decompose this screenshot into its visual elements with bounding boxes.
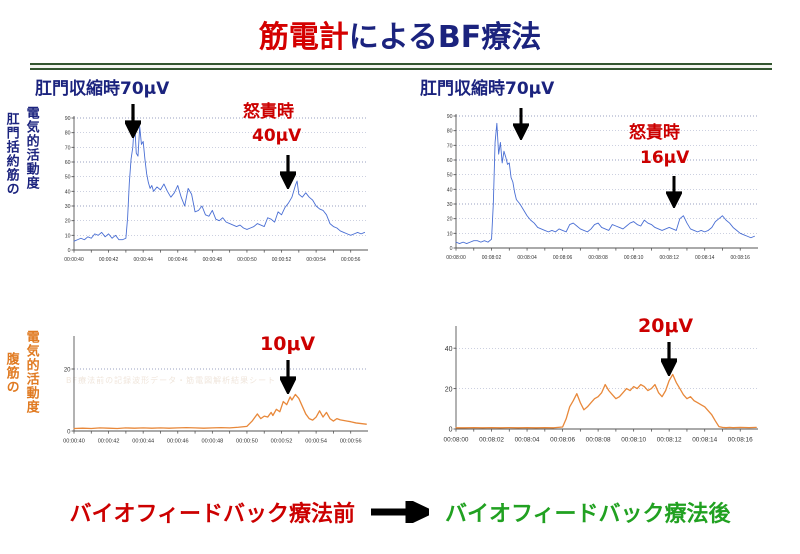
svg-text:00:00:50: 00:00:50 <box>237 257 257 263</box>
title-red-part: 筋電計 <box>259 20 349 55</box>
slide-root: 筋電計によるBF療法 肛門括約筋の 電気的活動度 腹筋の 電気的活動度 0102… <box>0 0 800 554</box>
svg-text:60: 60 <box>447 158 453 164</box>
annotation-tl-strain-label: 怒責時 <box>243 103 294 122</box>
svg-text:00:08:00: 00:08:00 <box>446 255 466 261</box>
svg-text:00:00:54: 00:00:54 <box>305 439 327 445</box>
svg-text:00:08:06: 00:08:06 <box>550 436 575 443</box>
svg-text:00:00:52: 00:00:52 <box>271 439 293 445</box>
svg-text:00:00:46: 00:00:46 <box>167 439 189 445</box>
down-arrow-icon-tl-contract <box>125 104 141 138</box>
svg-text:00:08:02: 00:08:02 <box>482 255 502 261</box>
svg-text:80: 80 <box>65 131 71 137</box>
svg-text:00:08:14: 00:08:14 <box>695 255 715 261</box>
svg-text:00:08:08: 00:08:08 <box>586 436 611 443</box>
footer-before-label: バイオフィードバック療法前 <box>69 496 355 528</box>
svg-text:20: 20 <box>445 386 453 393</box>
annotation-tr-strain-value: 16μV <box>640 149 689 168</box>
svg-text:00:00:56: 00:00:56 <box>340 439 362 445</box>
svg-text:00:08:04: 00:08:04 <box>515 436 540 443</box>
svg-text:70: 70 <box>65 145 71 151</box>
svg-text:00:00:44: 00:00:44 <box>132 439 154 445</box>
chart-top-left-svg: 010203040506070809000:00:4000:00:4200:00… <box>52 112 372 272</box>
svg-text:00:08:00: 00:08:00 <box>444 436 469 443</box>
svg-text:00:00:40: 00:00:40 <box>64 257 84 263</box>
chart-bottom-right: 0204000:08:0000:08:0200:08:0400:08:0600:… <box>432 318 762 455</box>
annotation-tl-contract: 肛門収縮時70μV <box>35 80 169 99</box>
svg-text:00:00:44: 00:00:44 <box>133 257 153 263</box>
svg-text:00:08:10: 00:08:10 <box>624 255 644 261</box>
svg-text:40: 40 <box>445 346 453 353</box>
svg-text:00:08:02: 00:08:02 <box>479 436 504 443</box>
chart-top-right: 010203040506070809000:08:0000:08:0200:08… <box>432 110 762 270</box>
title-blue-part: によるBF療法 <box>349 20 541 55</box>
svg-text:30: 30 <box>447 202 453 208</box>
svg-text:00:00:48: 00:00:48 <box>201 439 223 445</box>
chart-bottom-right-svg: 0204000:08:0000:08:0200:08:0400:08:0600:… <box>432 318 762 455</box>
svg-text:00:00:42: 00:00:42 <box>98 439 120 445</box>
annotation-br-value: 20μV <box>638 316 693 337</box>
svg-text:20: 20 <box>64 367 71 373</box>
annotation-tl-strain-value: 40μV <box>252 127 301 146</box>
annotation-tr-strain-label: 怒責時 <box>629 124 680 143</box>
svg-text:00:08:04: 00:08:04 <box>517 255 537 261</box>
chart-bottom-left: 02000:00:4000:00:4200:00:4400:00:4600:00… <box>52 330 372 455</box>
axis-label-sphincter-inner: 電気的活動度 <box>24 106 38 190</box>
svg-text:00:00:54: 00:00:54 <box>306 257 326 263</box>
svg-text:0: 0 <box>67 429 71 435</box>
svg-text:60: 60 <box>65 160 71 166</box>
footer-after-label: バイオフィードバック療法後 <box>445 496 731 528</box>
svg-text:00:00:56: 00:00:56 <box>341 257 361 263</box>
svg-text:40: 40 <box>447 187 453 193</box>
annotation-bl-value: 10μV <box>260 334 315 355</box>
chart-top-right-svg: 010203040506070809000:08:0000:08:0200:08… <box>432 110 762 270</box>
svg-text:0: 0 <box>449 427 453 434</box>
svg-text:00:00:40: 00:00:40 <box>63 439 85 445</box>
chart-top-left: 010203040506070809000:00:4000:00:4200:00… <box>52 112 372 272</box>
svg-text:00:00:50: 00:00:50 <box>236 439 258 445</box>
down-arrow-icon-br <box>661 342 677 376</box>
svg-text:00:00:46: 00:00:46 <box>168 257 188 263</box>
svg-text:20: 20 <box>65 219 71 225</box>
svg-text:00:00:48: 00:00:48 <box>203 257 223 263</box>
svg-text:00:08:12: 00:08:12 <box>659 255 679 261</box>
svg-text:90: 90 <box>447 114 453 120</box>
svg-text:00:08:16: 00:08:16 <box>731 255 751 261</box>
svg-text:00:08:12: 00:08:12 <box>657 436 682 443</box>
svg-text:00:00:42: 00:00:42 <box>99 257 119 263</box>
title-divider <box>30 63 772 70</box>
right-arrow-icon <box>371 501 429 523</box>
page-title: 筋電計によるBF療法 <box>0 12 800 56</box>
svg-text:10: 10 <box>447 231 453 237</box>
axis-label-abdominal-outer: 腹筋の <box>4 352 18 394</box>
down-arrow-icon-tr-contract <box>513 108 529 140</box>
svg-text:00:08:14: 00:08:14 <box>692 436 717 443</box>
svg-text:00:08:06: 00:08:06 <box>553 255 573 261</box>
footer-caption: バイオフィードバック療法前 バイオフィードバック療法後 <box>0 496 800 528</box>
svg-text:90: 90 <box>65 116 71 122</box>
axis-label-sphincter-outer: 肛門括約筋の <box>4 112 18 196</box>
axis-label-abdominal-inner: 電気的活動度 <box>24 330 38 414</box>
svg-text:0: 0 <box>450 246 453 252</box>
svg-text:00:08:10: 00:08:10 <box>621 436 646 443</box>
svg-text:80: 80 <box>447 129 453 135</box>
down-arrow-icon-tr-strain <box>666 176 682 208</box>
down-arrow-icon-bl <box>280 360 296 394</box>
svg-text:50: 50 <box>65 175 71 181</box>
svg-text:0: 0 <box>68 248 71 254</box>
svg-text:00:08:16: 00:08:16 <box>728 436 753 443</box>
annotation-tr-contract: 肛門収縮時70μV <box>420 80 554 99</box>
svg-text:40: 40 <box>65 189 71 195</box>
svg-text:10: 10 <box>65 233 71 239</box>
svg-text:30: 30 <box>65 204 71 210</box>
svg-text:00:08:08: 00:08:08 <box>588 255 608 261</box>
svg-text:00:00:52: 00:00:52 <box>272 257 292 263</box>
svg-text:70: 70 <box>447 143 453 149</box>
svg-text:50: 50 <box>447 173 453 179</box>
down-arrow-icon-tl-strain <box>280 155 296 189</box>
chart-bottom-left-svg: 02000:00:4000:00:4200:00:4400:00:4600:00… <box>52 330 372 455</box>
svg-text:20: 20 <box>447 217 453 223</box>
